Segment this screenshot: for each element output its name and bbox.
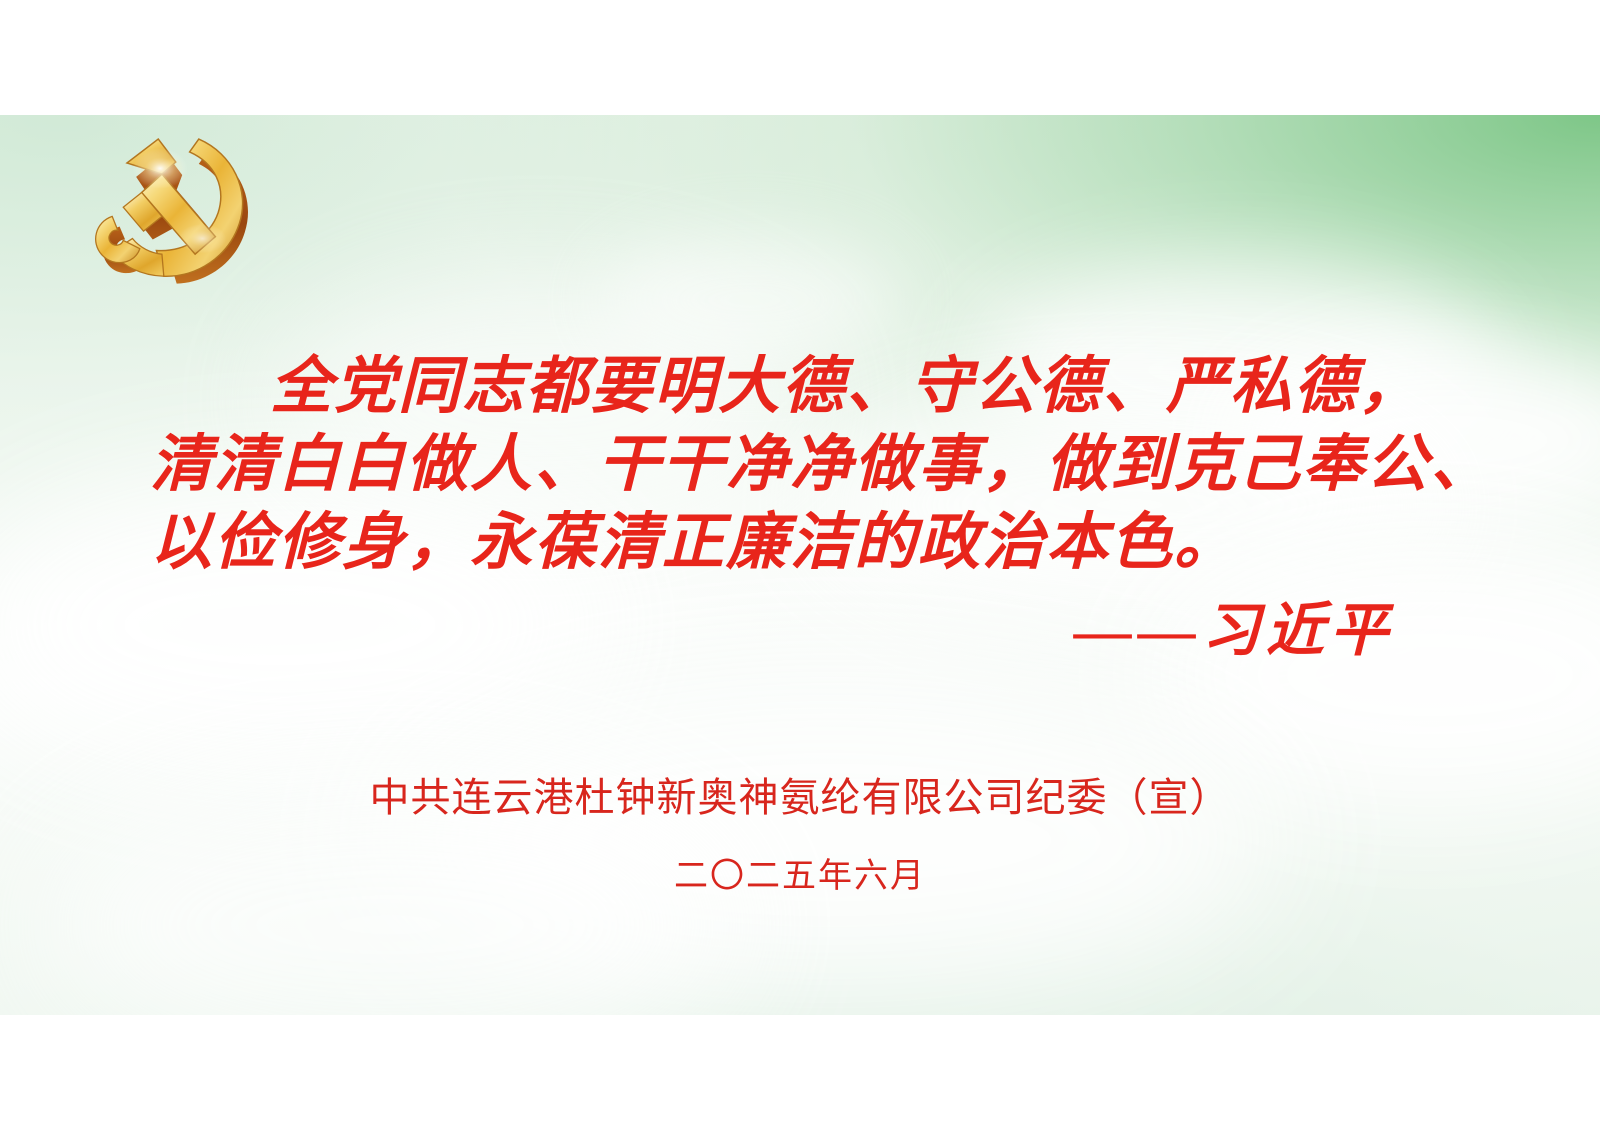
quote-attribution: ——习近平 bbox=[150, 596, 1420, 666]
poster-canvas: 全党同志都要明大德、守公德、严私德， 清清白白做人、干干净净做事，做到克己奉公、… bbox=[0, 0, 1600, 1132]
quote-line-3: 以俭修身，永葆清正廉洁的政治本色。 bbox=[150, 504, 1420, 582]
footer-organization: 中共连云港杜钟新奥神氨纶有限公司纪委（宣） bbox=[0, 770, 1600, 826]
quote-line-2: 清清白白做人、干干净净做事，做到克己奉公、 bbox=[150, 426, 1420, 504]
quote-block: 全党同志都要明大德、守公德、严私德， 清清白白做人、干干净净做事，做到克己奉公、… bbox=[150, 348, 1420, 666]
quote-line-1: 全党同志都要明大德、守公德、严私德， bbox=[150, 348, 1420, 426]
cpc-party-emblem-icon bbox=[78, 128, 268, 303]
cloud-wisp-icon bbox=[600, 235, 900, 365]
poster-footer: 中共连云港杜钟新奥神氨纶有限公司纪委（宣） 二〇二五年六月 bbox=[0, 770, 1600, 900]
footer-date: 二〇二五年六月 bbox=[0, 852, 1600, 900]
